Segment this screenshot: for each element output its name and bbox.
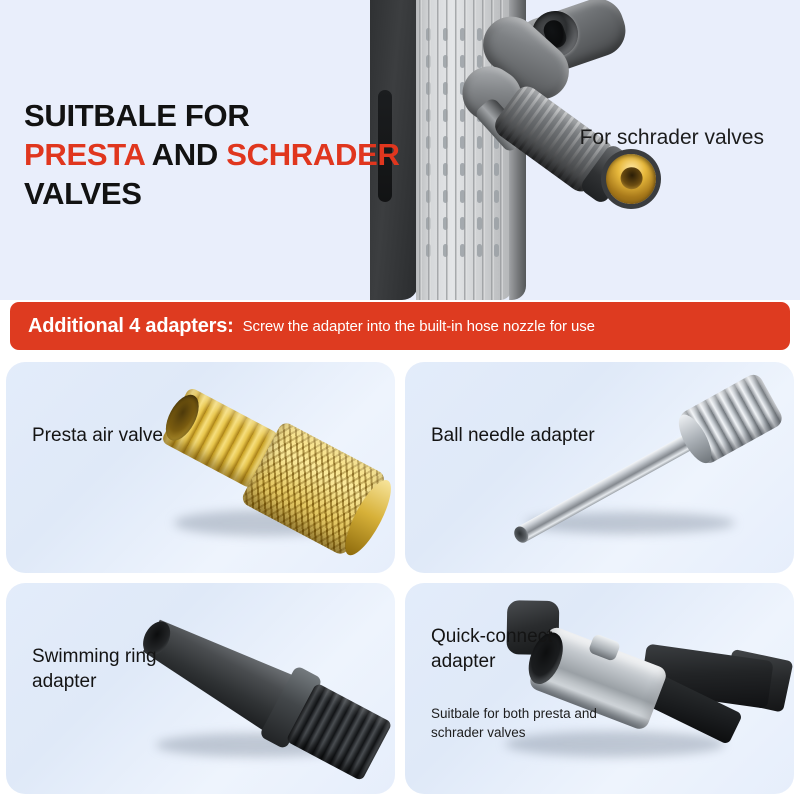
card-label-ball-needle: Ball needle adapter — [431, 424, 595, 449]
adapter-card-swimming-ring[interactable]: Swimming ring adapter — [6, 583, 395, 794]
headline-presta: PRESTA — [24, 137, 145, 172]
adapter-card-ball-needle[interactable]: Ball needle adapter — [405, 362, 794, 573]
banner-description: Screw the adapter into the built-in hose… — [243, 318, 595, 335]
card-label-swimming-ring: Swimming ring adapter — [32, 645, 204, 694]
banner-title: Additional 4 adapters: — [28, 315, 234, 338]
card-label-presta-air-valve: Presta air valve — [32, 424, 163, 449]
hero-section: SUITBALE FOR PRESTA AND SCHRADER VALVES … — [0, 0, 800, 300]
headline-schrader: SCHRADER — [226, 137, 399, 172]
headline-and: AND — [145, 137, 227, 172]
presta-adapter-art — [6, 362, 395, 573]
adapter-card-presta-air-valve[interactable]: Presta air valve — [6, 362, 395, 573]
additional-adapters-banner: Additional 4 adapters: Screw the adapter… — [10, 302, 790, 350]
page-headline: SUITBALE FOR PRESTA AND SCHRADER VALVES — [24, 96, 400, 213]
card-sub-quick-connect: Suitbale for both presta and schrader va… — [431, 705, 611, 742]
quick-connect-adapter-art — [405, 583, 794, 794]
headline-line-2: PRESTA AND SCHRADER — [24, 135, 400, 174]
adapter-card-grid: Presta air valve Ball needle adapter Swi… — [6, 362, 794, 794]
hero-side-label: For schrader valves — [574, 124, 764, 152]
adapter-card-quick-connect[interactable]: Quick-connect adapter Suitbale for both … — [405, 583, 794, 794]
headline-line-3: VALVES — [24, 174, 400, 213]
card-label-quick-connect: Quick-connect adapter — [431, 625, 603, 674]
headline-line-1: SUITBALE FOR — [24, 96, 400, 135]
ball-needle-art — [405, 362, 794, 573]
